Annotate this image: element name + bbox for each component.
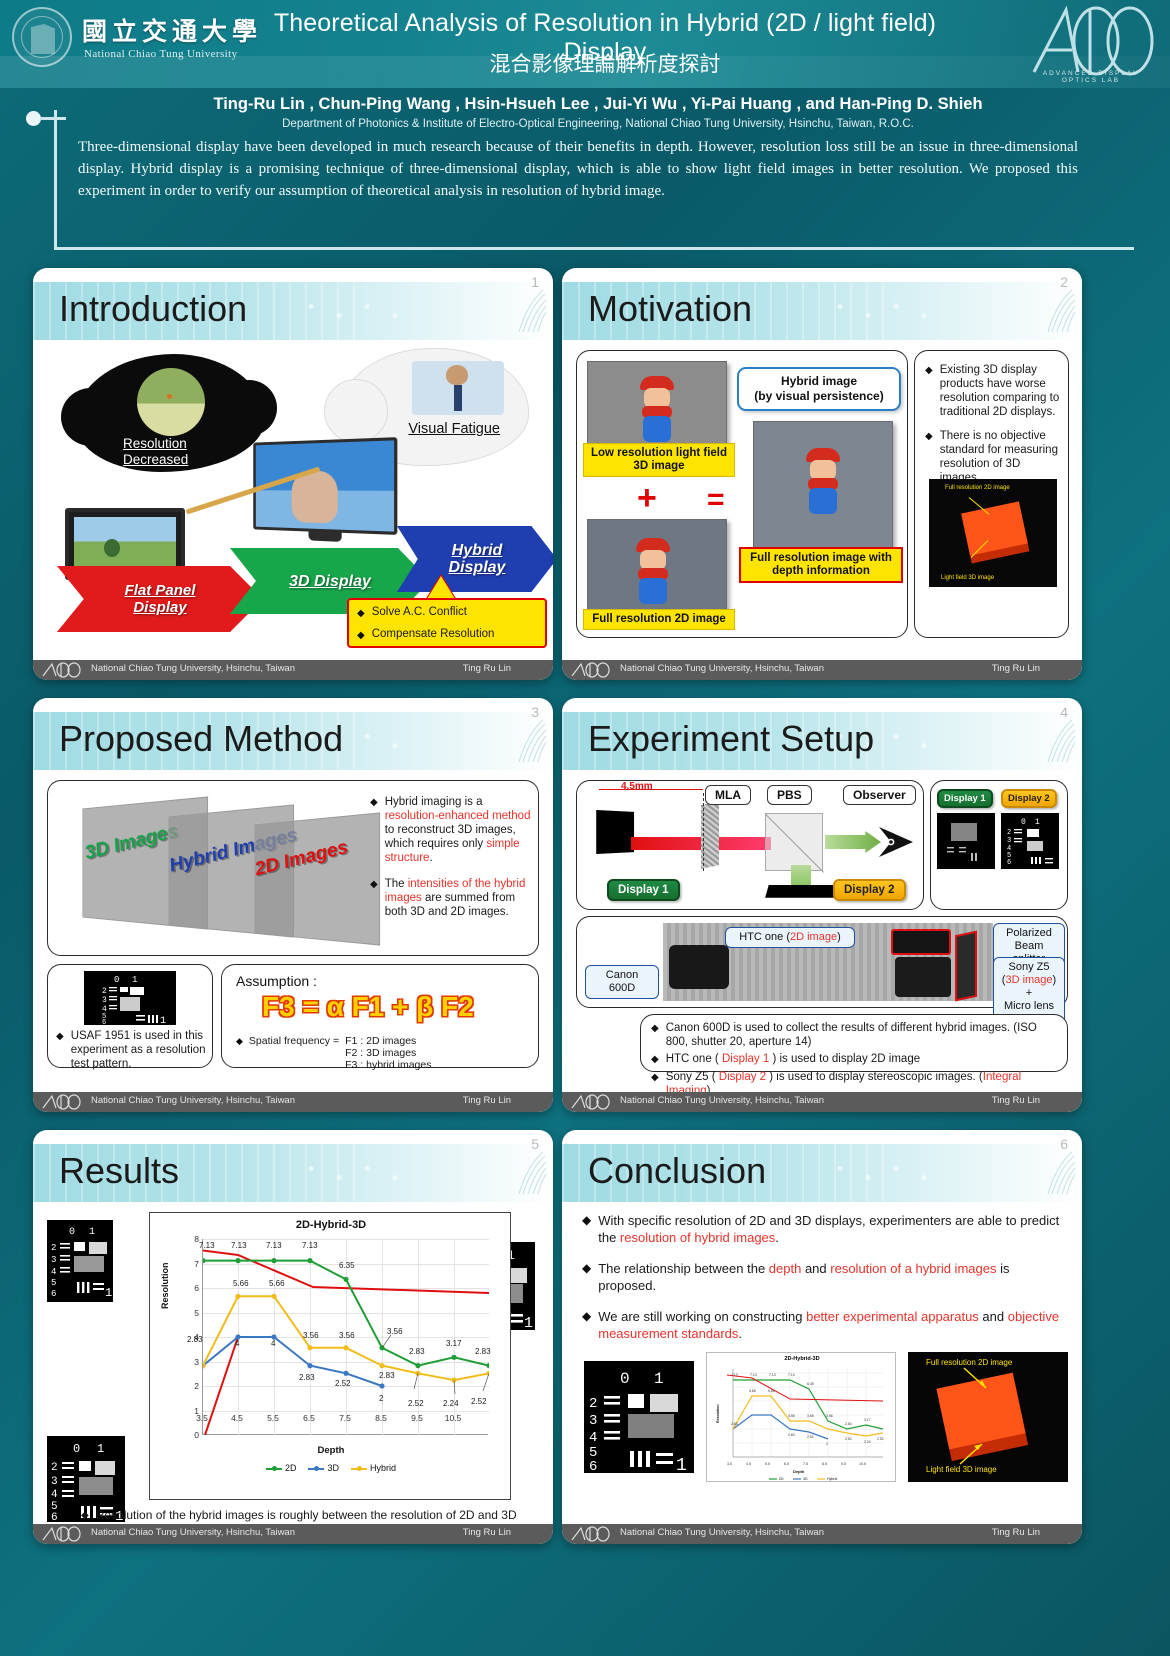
label-3d-4: 2.83 <box>299 1373 315 1382</box>
hybrid-label-line2: (by visual persistence) <box>754 389 883 403</box>
usaf-svg-conclusion: 0 1 23456 1 <box>584 1361 694 1473</box>
layer-planes-diagram: 3D Images Hybrid Images 2D Images <box>58 789 358 947</box>
usaf-sample-svg-2: 0 1 23456 <box>1001 813 1059 869</box>
svg-text:2.52: 2.52 <box>807 1435 814 1439</box>
diamond-bullet-icon: ◆ <box>925 429 933 485</box>
display2-sample-label: Display 2 <box>1001 789 1057 808</box>
reference-plane-line <box>703 793 704 871</box>
ado-footer-logo-icon <box>40 661 82 678</box>
panel-number: 4 <box>1060 704 1068 720</box>
experiment-photo-box: Canon 600D HTC one (2D image) Polarized … <box>576 916 1068 1008</box>
fullres-2d-caption: Full resolution 2D image <box>583 609 735 630</box>
fan-decoration-icon <box>513 718 547 764</box>
y-tick-0: 0 <box>187 1430 199 1440</box>
footer-author: Ting Ru Lin <box>463 663 511 674</box>
svg-text:2: 2 <box>589 1396 597 1412</box>
canon-label: Canon 600D <box>585 965 659 999</box>
arrow-flat-panel-display: Flat Panel Display <box>57 566 263 632</box>
svg-text:Hybrid: Hybrid <box>827 1477 837 1481</box>
svg-text:1: 1 <box>89 1227 95 1238</box>
label-3d-3: 4 <box>271 1339 275 1348</box>
svg-text:7.5: 7.5 <box>803 1462 808 1466</box>
svg-text:1: 1 <box>676 1456 687 1473</box>
motivation-bullet-1: Existing 3D display products have worse … <box>940 363 1061 419</box>
label-hybrid-8: 2.24 <box>443 1399 459 1408</box>
panel-proposed-method: 3 Proposed Method 3D Images Hybrid Image… <box>33 698 553 1112</box>
svg-text:1: 1 <box>524 1315 533 1330</box>
svg-text:6.35: 6.35 <box>807 1382 814 1386</box>
svg-text:0: 0 <box>69 1227 75 1238</box>
label-2d-5: 6.35 <box>339 1261 355 1270</box>
resolution-decreased-line1: Resolution <box>123 436 187 451</box>
conclusion-bullets: ◆ With specific resolution of 2D and 3D … <box>582 1212 1070 1349</box>
svg-text:1: 1 <box>105 1286 112 1300</box>
svg-text:3.56: 3.56 <box>826 1414 833 1418</box>
label-2d-3: 7.13 <box>266 1241 282 1250</box>
htc-phone-device <box>891 929 951 955</box>
cube-caption-top: Full resolution 2D image <box>945 485 1010 491</box>
svg-text:0: 0 <box>114 975 119 985</box>
x-tick-1: 3.5 <box>185 1413 219 1423</box>
svg-text:2: 2 <box>826 1442 828 1446</box>
x-tick-7: 9.5 <box>400 1413 434 1423</box>
label-hybrid-6: 2.83 <box>379 1371 395 1380</box>
svg-text:2: 2 <box>51 1462 58 1474</box>
svg-text:6.5: 6.5 <box>784 1462 789 1466</box>
conclusion-images: 0 1 23456 1 2D-Hybrid-3D <box>584 1342 1070 1492</box>
spatial-item-1: F1 : 2D images <box>345 1035 416 1047</box>
pbs-cube <box>765 813 823 871</box>
conclusion-mini-chart: 2D-Hybrid-3D 7.137.137.137.13 <box>706 1352 896 1482</box>
hybrid-label-line1: Hybrid image <box>781 374 857 388</box>
svg-text:5.66: 5.66 <box>768 1389 775 1393</box>
label-hybrid-7: 2.52 <box>408 1399 424 1408</box>
footer-author: Ting Ru Lin <box>992 1095 1040 1106</box>
ado-footer-logo-icon <box>569 1093 611 1110</box>
affiliation: Department of Photonics & Institute of E… <box>78 118 1118 130</box>
usaf-1951-chart-image: 0 1 2 3 4 5 6 1 <box>84 971 176 1025</box>
diamond-bullet-icon: ◆ <box>56 1029 64 1071</box>
svg-text:5: 5 <box>51 1278 56 1288</box>
svg-text:2: 2 <box>1007 829 1011 837</box>
usaf-note: USAF 1951 is used in this experiment as … <box>71 1029 206 1071</box>
mario-overalls <box>639 578 667 604</box>
setup-note-1: Canon 600D is used to collect the result… <box>666 1021 1061 1049</box>
svg-text:3: 3 <box>102 996 107 1005</box>
tired-person-photo <box>412 361 504 415</box>
footer-institution: National Chiao Tung University, Hsinchu,… <box>91 1095 295 1106</box>
mario-overalls <box>809 488 837 514</box>
display1-usaf-sample <box>937 813 995 869</box>
svg-text:3.56: 3.56 <box>788 1414 795 1418</box>
result-caption-line1: Full resolution image with <box>750 552 892 564</box>
abstract-bullet-dot-icon <box>26 111 41 126</box>
spatial-item-2: F2 : 3D images <box>345 1047 416 1059</box>
diamond-bullet-icon: ◆ <box>582 1260 591 1294</box>
panel-footer: National Chiao Tung University, Hsinchu,… <box>562 1524 1082 1544</box>
mla-label: MLA <box>705 785 751 805</box>
x-tick-8: 10.5 <box>436 1413 470 1423</box>
lowres-caption-line2: 3D image <box>633 460 684 472</box>
svg-text:4: 4 <box>589 1430 597 1446</box>
panel-title: Results <box>59 1150 179 1192</box>
y-tick-3: 3 <box>187 1357 199 1367</box>
label-hybrid-3: 5.66 <box>269 1279 285 1288</box>
svg-text:4: 4 <box>51 1267 56 1277</box>
university-name-cn: 國立交通大學 <box>82 12 262 48</box>
sony-phone-mla <box>955 931 977 1002</box>
label-2d-6: 3.56 <box>387 1327 403 1336</box>
label-hybrid-5: 3.56 <box>339 1331 355 1340</box>
poster-header: 國立交通大學 National Chiao Tung University Th… <box>0 0 1170 88</box>
diamond-bullet-icon: ◆ <box>582 1212 591 1246</box>
optical-setup-diagram: 4.5mm MLA PBS Observer Display 1 Display… <box>576 780 924 910</box>
fullres-2d-image <box>587 519 727 617</box>
introduction-diagram: Resolution Decreased Visual Fatigue Flat… <box>47 348 539 640</box>
display2-source-pattern <box>765 885 839 898</box>
svg-text:Resolution: Resolution <box>716 1404 720 1423</box>
svg-text:2D: 2D <box>779 1477 784 1481</box>
abstract-block: Ting-Ru Lin , Chun-Ping Wang , Hsin-Hsue… <box>18 88 1152 258</box>
diamond-bullet-icon: ◆ <box>582 1308 591 1342</box>
fan-decoration-icon <box>513 288 547 334</box>
ado-footer-logo-icon <box>569 661 611 678</box>
svg-text:4.5: 4.5 <box>746 1462 751 1466</box>
equals-operator: = <box>707 483 725 517</box>
svg-text:0: 0 <box>1021 818 1026 827</box>
usaf-svg-topleft: 0 1 23456 1 <box>47 1220 113 1302</box>
label-2d-4: 7.13 <box>302 1241 318 1250</box>
svg-text:0: 0 <box>73 1442 80 1456</box>
degraded-image-thumb <box>137 368 205 436</box>
display-samples-box: Display 1 Display 2 0 1 23456 <box>930 780 1068 910</box>
abstract-text: Three-dimensional display have been deve… <box>78 136 1078 202</box>
y-tick-7: 7 <box>187 1259 199 1269</box>
legend-item-2d: 2D <box>266 1463 297 1473</box>
svg-text:3.56: 3.56 <box>807 1414 814 1418</box>
panel-footer: National Chiao Tung University, Hsinchu,… <box>33 1524 553 1544</box>
svg-text:2.24: 2.24 <box>864 1440 871 1444</box>
visual-fatigue-label: Visual Fatigue <box>408 421 500 437</box>
ado-footer-logo-icon <box>569 1525 611 1542</box>
usaf-pattern-svg: 0 1 2 3 4 5 6 1 <box>84 971 176 1025</box>
x-tick-3: 5.5 <box>256 1413 290 1423</box>
assumption-box: Assumption : F3 = α F1 + β F2 ◆ Spatial … <box>221 964 539 1068</box>
conclusion-usaf-image: 0 1 23456 1 <box>584 1361 694 1473</box>
svg-text:1: 1 <box>160 1016 166 1025</box>
svg-text:6: 6 <box>589 1459 597 1473</box>
conclusion-bullet-2: The relationship between the depth and r… <box>598 1260 1070 1294</box>
red-cube-shape <box>961 501 1028 555</box>
cube-annotation-arrows <box>908 1352 1068 1482</box>
svg-text:7.13: 7.13 <box>788 1373 795 1377</box>
chart-plot-area: 8 7 6 5 4 3 2 1 0 <box>202 1239 488 1435</box>
display1-chip: Display 1 <box>607 879 680 901</box>
diamond-bullet-icon: ◆ <box>651 1052 659 1067</box>
y-tick-2: 2 <box>187 1381 199 1391</box>
resolution-decreased-line2: Decreased <box>123 452 188 467</box>
motivation-bullets-box: ◆ Existing 3D display products have wors… <box>914 350 1069 638</box>
proposed-method-top-box: 3D Images Hybrid Images 2D Images ◆ Hybr… <box>47 780 539 956</box>
lowres-3d-caption: Low resolution light field 3D image <box>583 443 735 477</box>
x-tick-2: 4.5 <box>220 1413 254 1423</box>
ado-footer-logo-icon <box>40 1525 82 1542</box>
display1-sample-label: Display 1 <box>937 789 993 808</box>
footer-institution: National Chiao Tung University, Hsinchu,… <box>91 1527 295 1538</box>
panel-title: Proposed Method <box>59 718 343 760</box>
canon-camera-body <box>669 945 729 989</box>
panel-number: 5 <box>531 1136 539 1152</box>
label-3d-5: 2.52 <box>335 1379 351 1388</box>
conclusion-cube-photo: Full resolution 2D image Light field 3D … <box>908 1352 1068 1482</box>
plus-operator: + <box>637 479 657 518</box>
university-name-en: National Chiao Tung University <box>84 48 237 60</box>
svg-text:0: 0 <box>620 1370 630 1388</box>
label-3d-6: 2 <box>379 1394 383 1403</box>
mario-overalls <box>643 416 671 442</box>
camera-rig <box>895 957 951 997</box>
ado-logo-icon <box>1026 2 1156 80</box>
panel-number: 6 <box>1060 1136 1068 1152</box>
svg-text:3.17: 3.17 <box>864 1418 871 1422</box>
svg-text:6: 6 <box>102 1019 106 1025</box>
label-2d-1: 7.13 <box>199 1241 215 1250</box>
label-2d-7: 2.83 <box>409 1347 425 1356</box>
footer-institution: National Chiao Tung University, Hsinchu,… <box>620 1095 824 1106</box>
chart-y-axis-label: Resolution <box>160 1263 170 1310</box>
svg-text:2: 2 <box>102 987 107 996</box>
usaf-sample-svg-1 <box>937 813 995 869</box>
arrow-hybrid-display: Hybrid Display <box>397 526 553 592</box>
conclusion-bullet-3: We are still working on constructing bet… <box>598 1308 1070 1342</box>
svg-text:7.13: 7.13 <box>731 1373 738 1377</box>
svg-text:2.52: 2.52 <box>877 1437 884 1441</box>
panel-results: 5 Results 0 1 23456 1 0 1 <box>33 1130 553 1544</box>
mario-face <box>640 550 666 570</box>
label-3d-2: 4 <box>235 1339 239 1348</box>
svg-text:7.13: 7.13 <box>769 1373 776 1377</box>
athlete-figure <box>292 471 338 524</box>
pm-bullet-2: The intensities of the hybrid images are… <box>385 877 534 919</box>
y-tick-6: 6 <box>187 1283 199 1293</box>
x-tick-6: 8.5 <box>364 1413 398 1423</box>
motivation-bullet-2: There is no objective standard for measu… <box>940 429 1061 485</box>
motivation-concept-box: Low resolution light field 3D image + = … <box>576 350 908 638</box>
svg-text:5.5: 5.5 <box>765 1462 770 1466</box>
panel-title: Conclusion <box>588 1150 766 1192</box>
arrow-flat-panel-label1: Flat Panel <box>125 582 196 599</box>
monitor-screen-image <box>74 517 176 571</box>
assumption-formula: F3 = α F1 + β F2 <box>262 991 474 1023</box>
observer-eye-icon <box>877 821 917 863</box>
mini-chart-svg: 7.137.137.137.13 6.353.562.833.17 5.665.… <box>707 1353 897 1483</box>
introduction-callout: ◆ Solve A.C. Conflict ◆ Compensate Resol… <box>347 598 547 648</box>
cube-caption-bottom: Light field 3D image <box>941 575 994 581</box>
svg-text:2: 2 <box>51 1243 56 1253</box>
y-tick-8: 8 <box>187 1234 199 1244</box>
panel-introduction: 1 Introduction Resolution Decreased Visu… <box>33 268 553 680</box>
svg-text:6: 6 <box>51 1289 56 1299</box>
label-2d-2: 7.13 <box>231 1241 247 1250</box>
svg-text:7.13: 7.13 <box>750 1373 757 1377</box>
panel-footer: National Chiao Tung University, Hsinchu,… <box>33 1092 553 1112</box>
diamond-bullet-icon: ◆ <box>357 606 365 621</box>
diamond-bullet-icon: ◆ <box>925 363 933 419</box>
diamond-bullet-icon: ◆ <box>651 1021 659 1049</box>
callout-item-2: Compensate Resolution <box>372 628 495 643</box>
svg-text:5.66: 5.66 <box>749 1389 756 1393</box>
svg-text:9.5: 9.5 <box>841 1462 846 1466</box>
fan-decoration-icon <box>513 1150 547 1196</box>
observer-label: Observer <box>843 785 916 805</box>
legend-item-hybrid: Hybrid <box>351 1463 396 1473</box>
proposed-method-bullets: ◆ Hybrid imaging is a resolution-enhance… <box>370 795 534 926</box>
mario-face <box>810 460 836 480</box>
svg-text:3: 3 <box>589 1413 597 1429</box>
chart-title: 2D-Hybrid-3D <box>150 1219 512 1231</box>
panel-number: 3 <box>531 704 539 720</box>
label-2d-9: 2.83 <box>475 1347 491 1356</box>
footer-institution: National Chiao Tung University, Hsinchu,… <box>620 663 824 674</box>
footer-author: Ting Ru Lin <box>463 1527 511 1538</box>
usaf-reference-topleft: 0 1 23456 1 <box>47 1220 113 1302</box>
htc-label: HTC one (2D image) <box>725 927 855 948</box>
panel-footer: National Chiao Tung University, Hsinchu,… <box>562 660 1082 680</box>
display2-chip: Display 2 <box>833 879 906 901</box>
assumption-title: Assumption : <box>236 973 317 989</box>
hybrid-cube-photo: Full resolution 2D image Light field 3D … <box>929 479 1057 587</box>
legend-item-3d: 3D <box>308 1463 339 1473</box>
plane-2d-images <box>254 812 380 945</box>
svg-text:3: 3 <box>51 1476 58 1488</box>
ado-footer-logo-icon <box>40 1093 82 1110</box>
svg-text:2.83: 2.83 <box>731 1422 738 1426</box>
nctu-seal-icon <box>12 7 72 67</box>
result-caption-line2: depth information <box>772 565 870 577</box>
hybrid-result-caption: Full resolution image with depth informa… <box>739 547 903 583</box>
label-hybrid-4: 3.56 <box>303 1331 319 1340</box>
footer-institution: National Chiao Tung University, Hsinchu,… <box>91 663 295 674</box>
svg-text:1: 1 <box>1035 818 1040 827</box>
pm-bullet-1: Hybrid imaging is a resolution-enhanced … <box>385 795 534 865</box>
panel-footer: National Chiao Tung University, Hsinchu,… <box>33 660 553 680</box>
arrow-hybrid-label2: Display <box>449 559 506 576</box>
svg-text:2.83: 2.83 <box>788 1433 795 1437</box>
poster-title-cn: 混合影像理論解析度探討 <box>240 48 970 78</box>
callout-item-1: Solve A.C. Conflict <box>372 606 467 621</box>
svg-text:3D: 3D <box>803 1477 808 1481</box>
label-hybrid-2: 5.66 <box>233 1279 249 1288</box>
hybrid-result-image <box>753 421 893 561</box>
diamond-bullet-icon: ◆ <box>236 1035 243 1071</box>
display2-usaf-sample: 0 1 23456 <box>1001 813 1059 869</box>
lowres-caption-line1: Low resolution light field <box>591 447 727 459</box>
fan-decoration-icon <box>1042 288 1076 334</box>
distance-label: 4.5mm <box>621 781 653 792</box>
series-2d-markers <box>203 1258 489 1368</box>
fan-decoration-icon <box>1042 718 1076 764</box>
footer-author: Ting Ru Lin <box>992 1527 1040 1538</box>
diamond-bullet-icon: ◆ <box>370 795 378 865</box>
svg-text:6: 6 <box>1007 859 1011 867</box>
y-tick-5: 5 <box>187 1308 199 1318</box>
thought-cloud-dark: Resolution Decreased <box>75 354 265 472</box>
panel-motivation: 2 Motivation Low resolution light field … <box>562 268 1082 680</box>
arrow-hybrid-label1: Hybrid <box>452 542 503 559</box>
chart-x-axis-label: Depth <box>150 1445 512 1456</box>
arrow-flat-panel-label2: Display <box>133 599 186 616</box>
hybrid-image-label: Hybrid image (by visual persistence) <box>737 367 901 411</box>
svg-text:4: 4 <box>51 1489 58 1501</box>
svg-text:6: 6 <box>51 1512 58 1522</box>
setup-note-2: HTC one ( Display 1 ) is used to display… <box>666 1052 920 1067</box>
panel-experiment-setup: 4 Experiment Setup 4.5mm MLA PBS Observe… <box>562 698 1082 1112</box>
svg-text:3: 3 <box>51 1255 56 1265</box>
poster-title-en: Theoretical Analysis of Resolution in Hy… <box>240 9 970 67</box>
footer-author: Ting Ru Lin <box>463 1095 511 1106</box>
panel-conclusion: 6 Conclusion ◆ With specific resolution … <box>562 1130 1082 1544</box>
svg-text:8.5: 8.5 <box>822 1462 827 1466</box>
fan-decoration-icon <box>1042 1150 1076 1196</box>
label-2d-8: 3.17 <box>446 1339 462 1348</box>
experiment-notes-box: ◆ Canon 600D is used to collect the resu… <box>640 1014 1068 1072</box>
author-list: Ting-Ru Lin , Chun-Ping Wang , Hsin-Hsue… <box>78 95 1118 114</box>
output-beam-arrow <box>825 831 881 853</box>
usaf-target-box: 0 1 2 3 4 5 6 1 ◆ USAF 1951 is used <box>47 964 213 1068</box>
arrow-3d-label: 3D Display <box>289 573 371 590</box>
svg-text:Depth: Depth <box>793 1469 805 1474</box>
spatial-item-3: F3 : hybrid images <box>345 1059 431 1071</box>
svg-text:1: 1 <box>132 975 137 985</box>
chart-legend: 2D 3D Hybrid <box>150 1463 512 1473</box>
mario-face <box>644 388 670 408</box>
svg-text:1: 1 <box>654 1370 664 1388</box>
conclusion-bullet-1: With specific resolution of 2D and 3D di… <box>598 1212 1070 1246</box>
pbs-label: PBS <box>767 785 812 805</box>
panel-title: Motivation <box>588 288 752 330</box>
label-hybrid-9: 2.52 <box>471 1397 487 1406</box>
x-tick-4: 6.5 <box>292 1413 326 1423</box>
usaf-source-pattern <box>596 810 634 854</box>
footer-author: Ting Ru Lin <box>992 663 1040 674</box>
svg-text:2.52: 2.52 <box>845 1437 852 1441</box>
panel-title: Experiment Setup <box>588 718 874 760</box>
panel-number: 2 <box>1060 274 1068 290</box>
footer-institution: National Chiao Tung University, Hsinchu,… <box>620 1527 824 1538</box>
x-tick-5: 7.5 <box>328 1413 362 1423</box>
diamond-bullet-icon: ◆ <box>370 877 378 919</box>
svg-text:1: 1 <box>97 1442 104 1456</box>
panel-number: 1 <box>531 274 539 290</box>
panel-footer: National Chiao Tung University, Hsinchu,… <box>562 1092 1082 1112</box>
svg-text:10.5: 10.5 <box>859 1462 866 1466</box>
panel-title: Introduction <box>59 288 247 330</box>
ado-logo-sublabel: ADVANCED DISPLAY OPTICS LAB <box>1026 70 1156 84</box>
svg-text:2.83: 2.83 <box>845 1422 852 1426</box>
diamond-bullet-icon: ◆ <box>357 628 365 643</box>
results-chart: 2D-Hybrid-3D Resolution 8 7 6 5 4 3 2 1 … <box>149 1212 511 1500</box>
svg-text:3: 3 <box>1007 837 1011 845</box>
spatial-frequency-label: Spatial frequency = <box>249 1035 339 1071</box>
svg-text:3.5: 3.5 <box>727 1462 732 1466</box>
label-3d-1: 2.83 <box>187 1335 203 1344</box>
